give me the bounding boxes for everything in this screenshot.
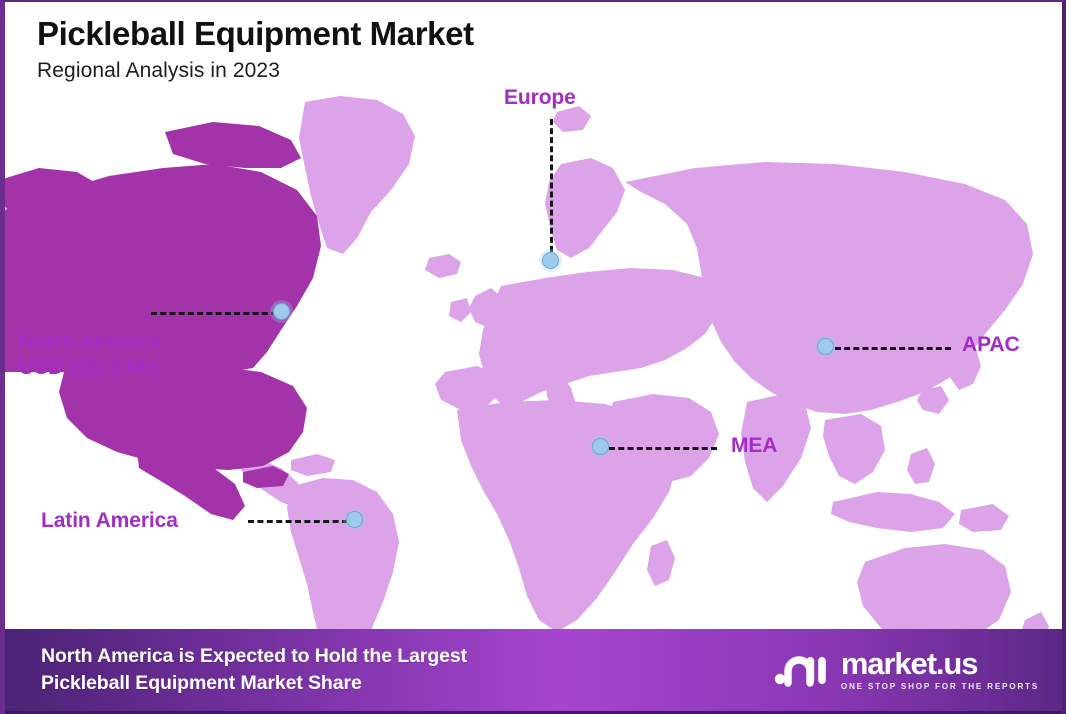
footer-caption-line2: Pickleball Equipment Market Share: [41, 670, 467, 697]
page-title: Pickleball Equipment Market: [37, 16, 474, 53]
region-label-europe[interactable]: Europe: [504, 85, 576, 111]
logo-text: market.us ONE STOP SHOP FOR THE REPORTS: [841, 648, 1039, 691]
map-base-regions: [237, 96, 1049, 632]
region-iceland: [425, 254, 461, 278]
region-label-latin-america-line1: Latin America: [41, 509, 178, 532]
region-label-mea-line1: MEA: [731, 434, 777, 457]
footer-caption: North America is Expected to Hold the La…: [41, 643, 467, 697]
region-indonesia: [831, 492, 955, 532]
region-europe-mainland: [479, 268, 721, 408]
region-madagascar: [647, 540, 675, 586]
leader-line-europe[interactable]: [550, 119, 553, 261]
region-indochina: [823, 414, 885, 484]
region-label-north-america-line2: USD 289.2 Mn: [19, 355, 162, 381]
marker-mea[interactable]: [592, 438, 609, 455]
map-highlighted-regions: [5, 122, 321, 520]
region-africa: [457, 400, 677, 632]
region-iberia: [435, 366, 501, 410]
region-label-apac[interactable]: APAC: [962, 332, 1020, 358]
region-caribbean: [291, 454, 335, 476]
world-map-svg: [5, 72, 1062, 632]
leader-line-mea[interactable]: [609, 447, 717, 450]
header: Pickleball Equipment Market Regional Ana…: [37, 16, 474, 83]
footer-caption-line1: North America is Expected to Hold the La…: [41, 645, 467, 667]
marker-europe[interactable]: [542, 252, 559, 269]
map-canvas: Pickleball Equipment Market Regional Ana…: [5, 2, 1062, 714]
infographic-root: Pickleball Equipment Market Regional Ana…: [0, 0, 1066, 714]
marker-north-america[interactable]: [273, 303, 290, 320]
market-us-logo[interactable]: market.us ONE STOP SHOP FOR THE REPORTS: [774, 648, 1049, 691]
region-label-europe-line1: Europe: [504, 86, 576, 109]
logo-name: market.us: [841, 648, 1039, 679]
region-arctic-islands: [165, 122, 301, 168]
region-south-america: [287, 478, 399, 632]
region-australia: [857, 544, 1011, 632]
page-subtitle: Regional Analysis in 2023: [37, 59, 474, 83]
region-png: [959, 504, 1009, 532]
region-label-north-america-line1: North America: [19, 330, 162, 353]
region-label-mea[interactable]: MEA: [731, 433, 777, 459]
region-scandinavia: [545, 158, 625, 258]
region-ireland: [449, 298, 471, 322]
marker-latin-america[interactable]: [346, 511, 363, 528]
region-philippines: [907, 448, 935, 484]
world-map: [5, 72, 1062, 632]
leader-line-apac[interactable]: [835, 347, 951, 350]
region-label-north-america[interactable]: North America USD 289.2 Mn: [19, 329, 162, 380]
leader-line-north-america[interactable]: [151, 312, 277, 315]
logo-tagline: ONE STOP SHOP FOR THE REPORTS: [841, 683, 1039, 691]
footer-bar: North America is Expected to Hold the La…: [5, 629, 1066, 714]
leader-line-latin-america[interactable]: [248, 520, 348, 523]
marker-apac[interactable]: [817, 338, 834, 355]
logo-bars-icon: [774, 649, 830, 691]
region-label-latin-america[interactable]: Latin America: [41, 508, 178, 534]
region-label-apac-line1: APAC: [962, 333, 1020, 356]
